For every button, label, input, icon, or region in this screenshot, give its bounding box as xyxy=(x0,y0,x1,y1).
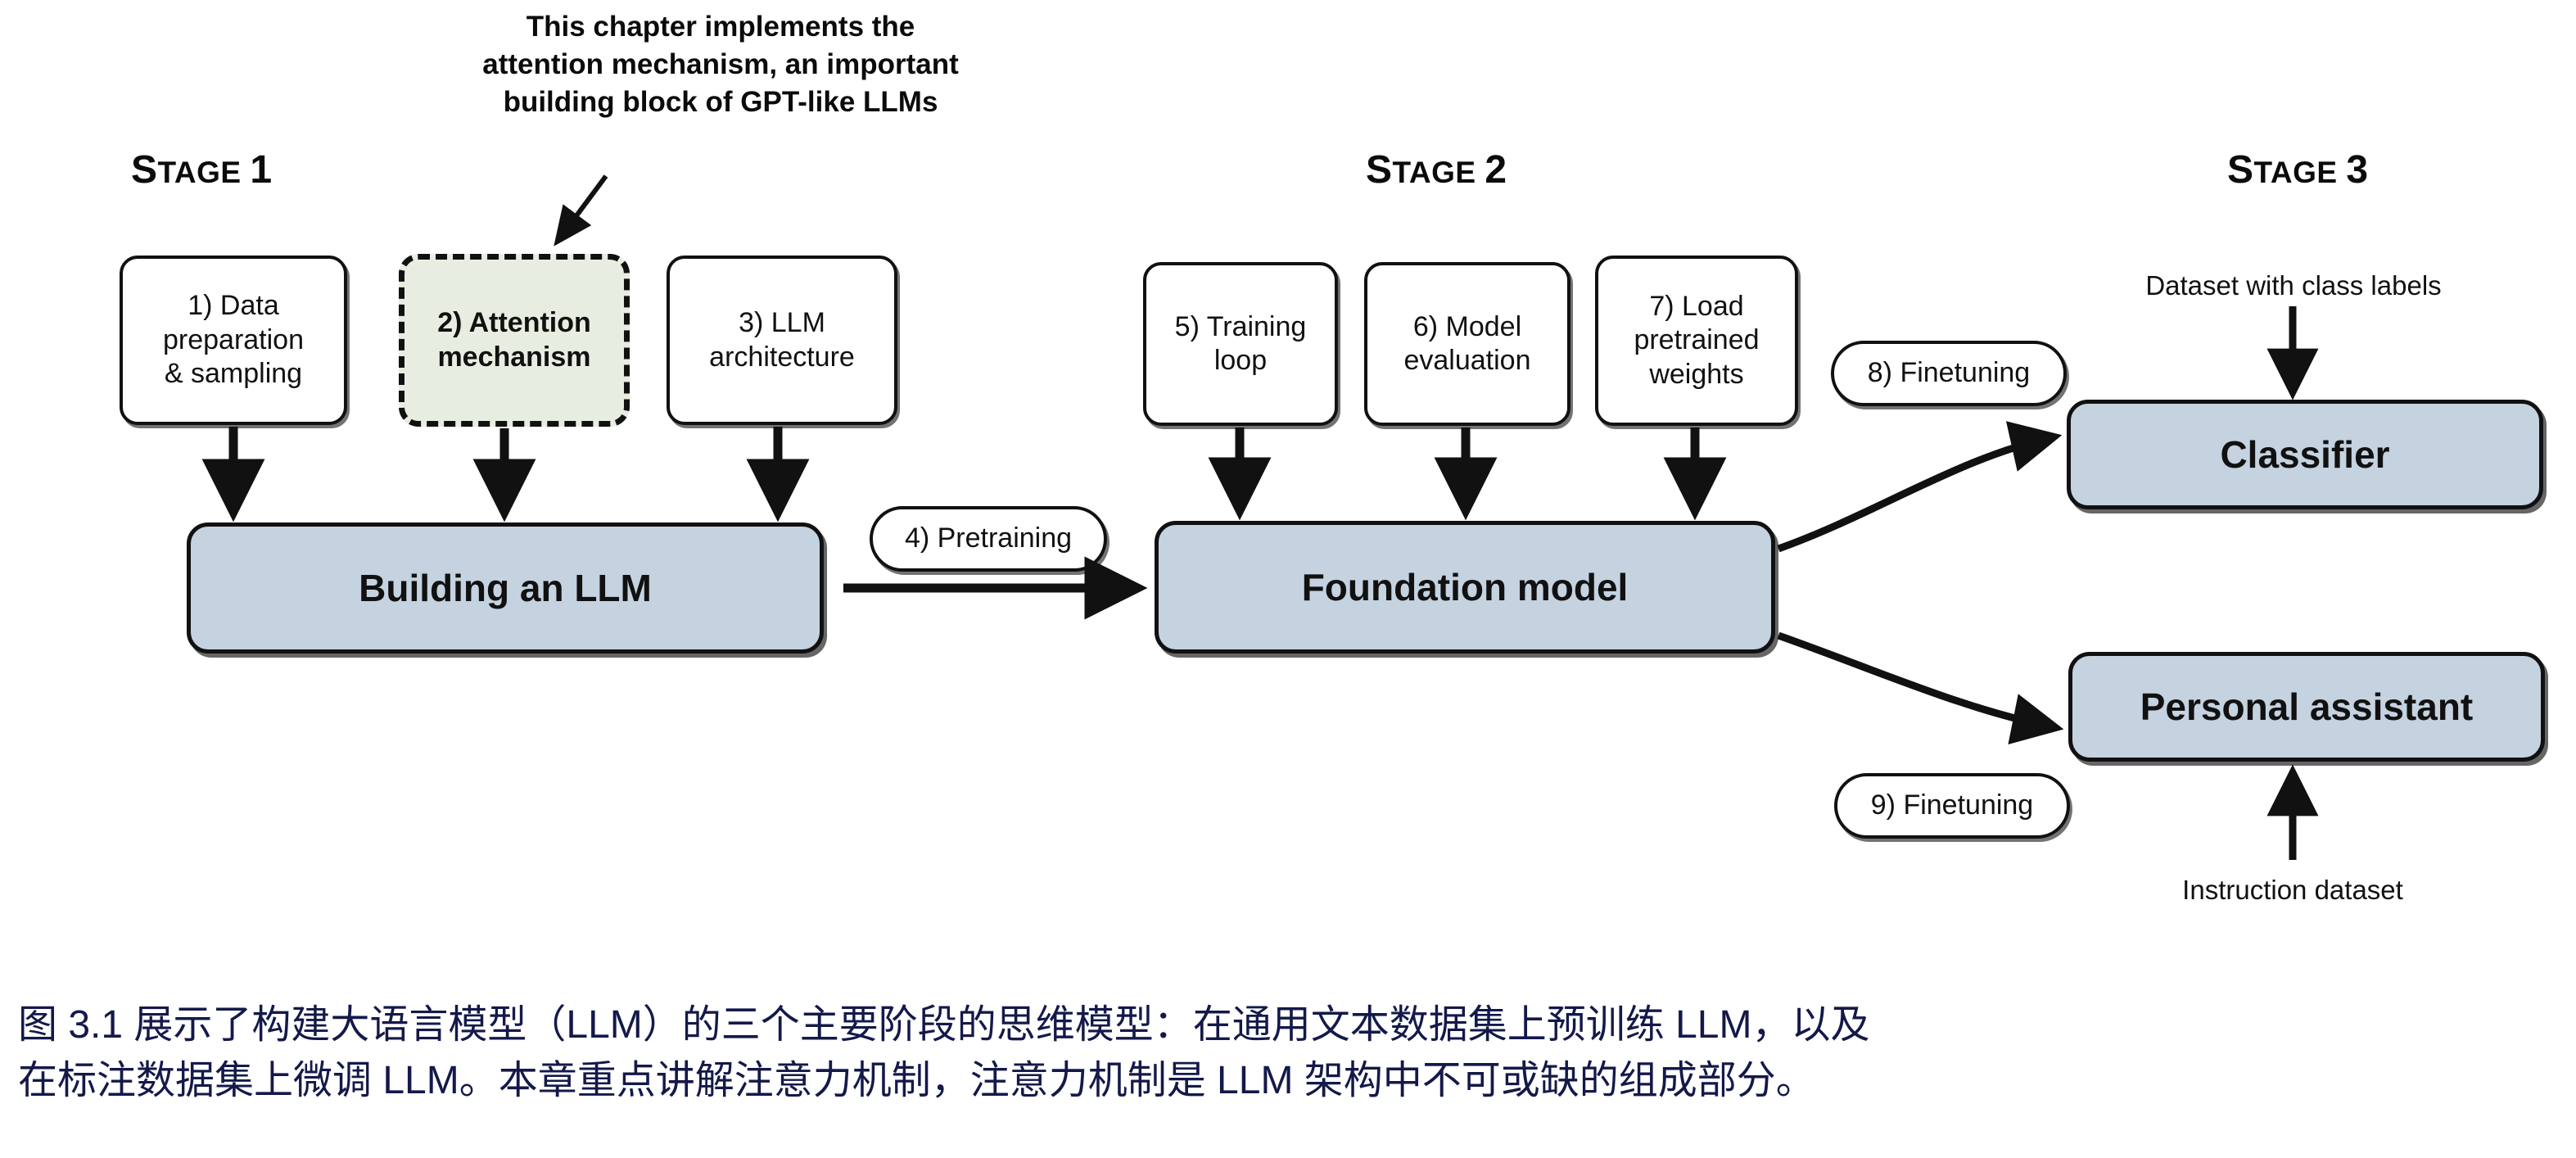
node-pretraining-label[interactable]: 4) Pretraining xyxy=(870,506,1107,572)
stage-2-heading-initial: S xyxy=(1366,148,1393,192)
node-building-an-llm[interactable]: Building an LLM xyxy=(187,522,824,654)
node-load-pretrained-weights[interactable]: 7) Load pretrained weights xyxy=(1595,256,1798,426)
label-instruction-dataset: Instruction dataset xyxy=(2145,875,2440,906)
node-training-loop[interactable]: 5) Training loop xyxy=(1143,262,1338,426)
node-foundation-model[interactable]: Foundation model xyxy=(1155,521,1775,654)
stage-1-heading: STAGE 1 xyxy=(131,147,273,192)
figure-diagram: This chapter implements the attention me… xyxy=(0,0,2576,966)
node-classifier[interactable]: Classifier xyxy=(2067,400,2543,509)
arrow-foundation-to-classifier xyxy=(1778,437,2052,549)
node-model-evaluation[interactable]: 6) Model evaluation xyxy=(1364,262,1570,426)
stage-2-heading-word: TAGE xyxy=(1393,156,1485,189)
caption-line-1: 图 3.1 展示了构建大语言模型（LLM）的三个主要阶段的思维模型：在通用文本数… xyxy=(18,997,2565,1053)
arrow-callout-to-attention xyxy=(558,176,606,240)
stage-1-heading-initial: S xyxy=(131,148,158,192)
node-attention-mechanism[interactable]: 2) Attention mechanism xyxy=(399,254,630,427)
node-personal-assistant[interactable]: Personal assistant xyxy=(2068,652,2545,762)
stage-3-heading-number: 3 xyxy=(2346,148,2368,192)
caption-line-2: 在标注数据集上微调 LLM。本章重点讲解注意力机制，注意力机制是 LLM 架构中… xyxy=(18,1053,2565,1109)
stage-1-heading-number: 1 xyxy=(250,148,272,192)
node-finetuning-8[interactable]: 8) Finetuning xyxy=(1831,341,2067,406)
stage-1-heading-word: TAGE xyxy=(158,156,251,189)
stage-3-heading-word: TAGE xyxy=(2254,156,2347,189)
figure-caption: 图 3.1 展示了构建大语言模型（LLM）的三个主要阶段的思维模型：在通用文本数… xyxy=(18,997,2565,1109)
arrow-foundation-to-assistant xyxy=(1778,636,2054,727)
stage-2-heading-number: 2 xyxy=(1485,148,1507,192)
node-finetuning-9[interactable]: 9) Finetuning xyxy=(1834,773,2070,839)
stage-2-heading: STAGE 2 xyxy=(1366,147,1507,192)
stage-3-heading: STAGE 3 xyxy=(2227,147,2369,192)
stage-3-heading-initial: S xyxy=(2227,148,2254,192)
label-dataset-with-class-labels: Dataset with class labels xyxy=(2101,270,2486,301)
node-data-preparation[interactable]: 1) Data preparation & sampling xyxy=(120,256,347,425)
chapter-callout-note: This chapter implements the attention me… xyxy=(426,8,1015,122)
node-llm-architecture[interactable]: 3) LLM architecture xyxy=(667,256,897,425)
